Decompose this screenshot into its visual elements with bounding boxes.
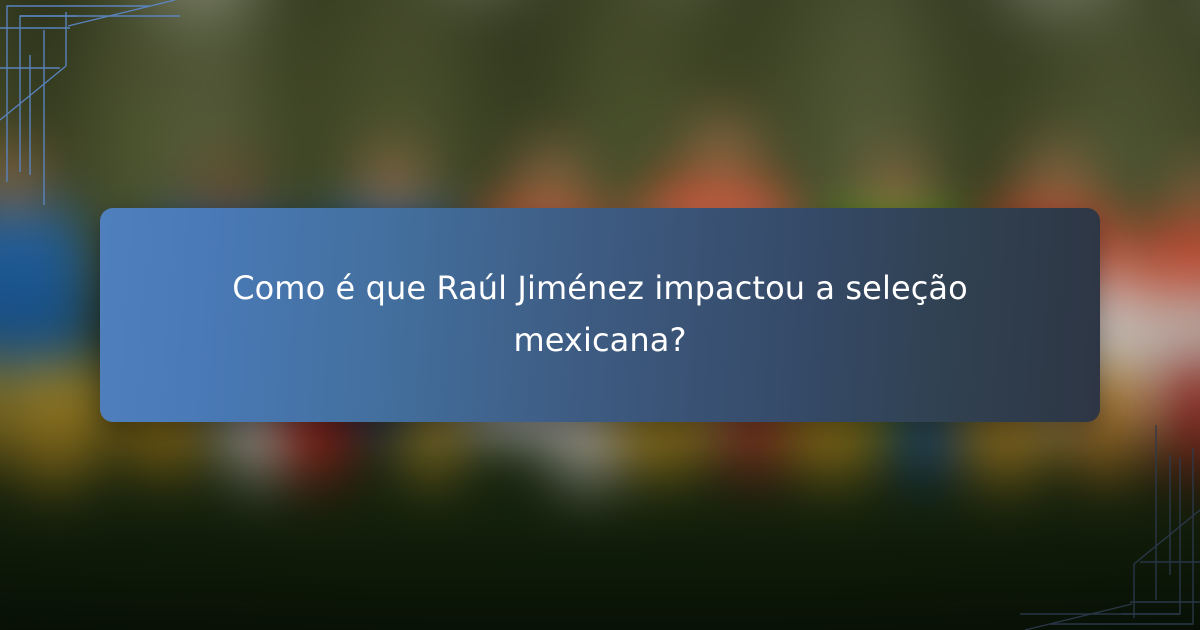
page-title: Como é que Raúl Jiménez impactou a seleç…	[158, 263, 1042, 367]
corner-ornament-bottom-right	[1000, 415, 1200, 630]
headline-card: Como é que Raúl Jiménez impactou a seleç…	[100, 208, 1100, 422]
social-card-canvas: Como é que Raúl Jiménez impactou a seleç…	[0, 0, 1200, 630]
corner-ornament-top-left	[0, 0, 200, 215]
